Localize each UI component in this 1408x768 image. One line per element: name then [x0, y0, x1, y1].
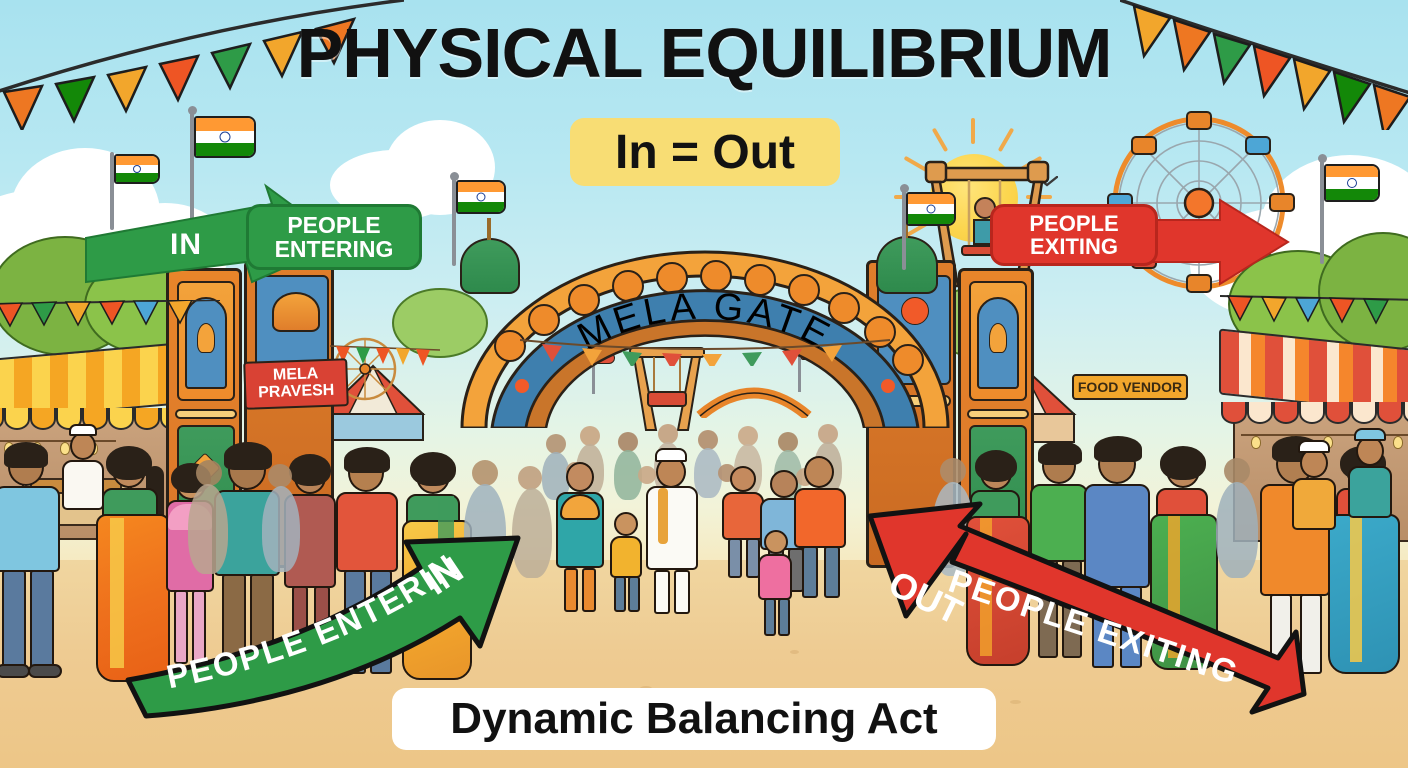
people-exiting-line2: EXITING	[1030, 235, 1118, 258]
people-exiting-line1: PEOPLE	[1029, 212, 1118, 235]
in-arrow-top-label: IN	[170, 228, 202, 261]
people-entering-line2: ENTERING	[275, 237, 394, 261]
bunting-right-stall	[1220, 294, 1408, 328]
people-exiting-arrow: PEOPLE EXITING OUT	[848, 512, 1308, 717]
food-vendor-label: FOOD VENDOR	[1078, 380, 1182, 395]
people-entering-line1: PEOPLE	[287, 213, 380, 237]
mela-pravesh-line2: PRAVESH	[258, 383, 335, 402]
bottom-banner: Dynamic Balancing Act	[392, 688, 996, 750]
mela-pravesh-sign: MELA PRAVESH	[243, 358, 349, 410]
poster-canvas: MELA GATE	[0, 0, 1408, 768]
svg-text:PEOPLE ENTERING: PEOPLE ENTERING	[106, 490, 464, 695]
people-entering-arrow-label: PEOPLE ENTERING	[106, 490, 464, 695]
dome-far-left	[272, 292, 320, 332]
arch-bunting	[520, 336, 890, 366]
page-title: PHYSICAL EQUILIBRIUM	[0, 18, 1408, 88]
mela-gate-arch: MELA GATE	[440, 228, 970, 428]
bunting-left-stall	[0, 300, 220, 334]
equation-badge: In = Out	[570, 118, 840, 186]
food-vendor-sign: FOOD VENDOR	[1072, 374, 1188, 400]
people-entering-sign: PEOPLE ENTERING	[246, 204, 422, 270]
people-exiting-sign: PEOPLE EXITING	[990, 204, 1158, 266]
